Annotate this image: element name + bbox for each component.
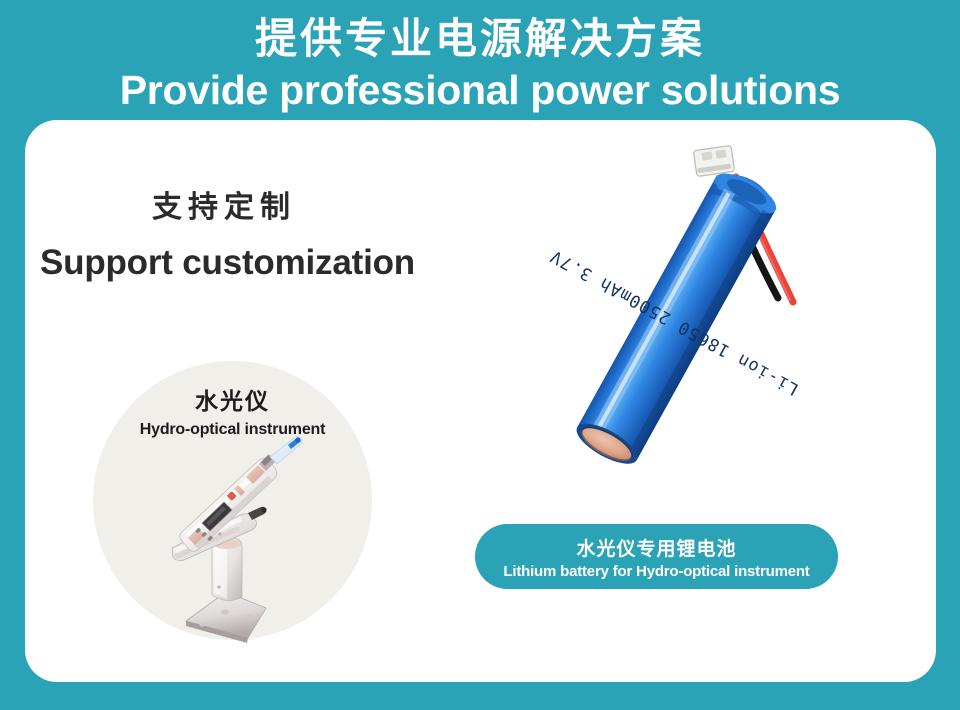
caption-title-cn: 水光仪专用锂电池 <box>475 534 838 561</box>
promo-banner: 提供专业电源解决方案 Provide professional power so… <box>0 0 960 710</box>
battery-cell: Li-ion 18650 2500mAh 3.7V <box>490 130 850 500</box>
instrument-column <box>212 538 242 601</box>
lithium-battery-image: Li-ion 18650 2500mAh 3.7V <box>490 130 850 500</box>
support-title-en: Support customization <box>40 243 415 283</box>
instrument-title-cn: 水光仪 <box>93 382 372 416</box>
support-title-cn: 支持定制 <box>152 182 296 226</box>
jst-connector-icon <box>693 145 734 176</box>
hydro-optical-instrument-icon <box>128 435 358 660</box>
header: 提供专业电源解决方案 Provide professional power so… <box>0 0 960 120</box>
caption-title-en: Lithium battery for Hydro-optical instru… <box>465 563 848 580</box>
header-title-en: Provide professional power solutions <box>0 66 960 114</box>
header-title-cn: 提供专业电源解决方案 <box>0 14 960 64</box>
